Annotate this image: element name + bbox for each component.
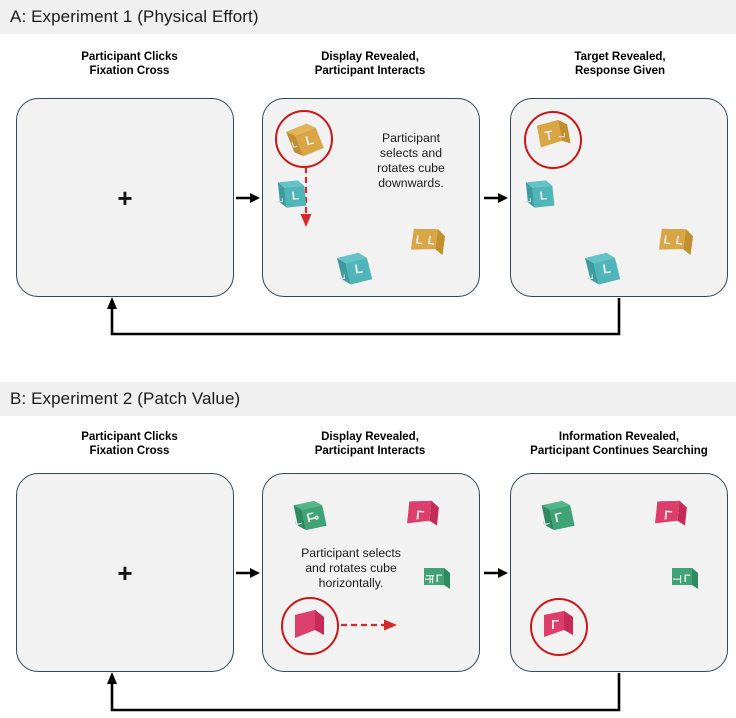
trial-sequence-figure: A: Experiment 1 (Physical Effort) Partic… (0, 0, 736, 718)
section-b-flow-arrows (0, 0, 736, 718)
